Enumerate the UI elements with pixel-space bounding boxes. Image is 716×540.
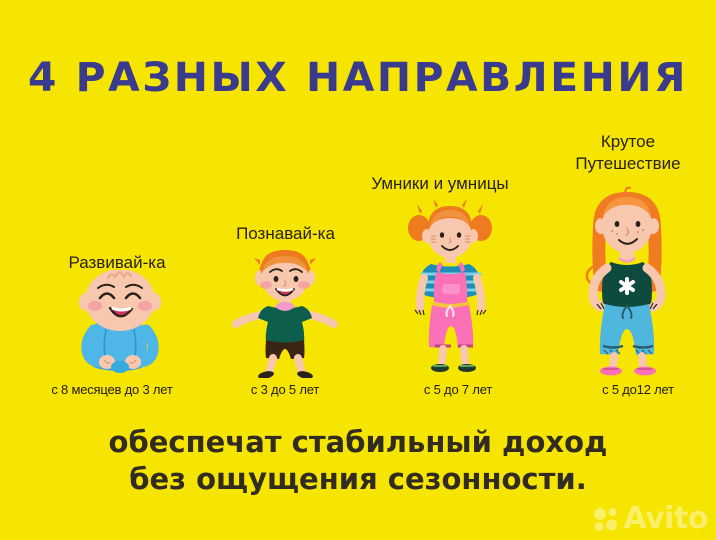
category-label-4: Крутое Путешествие [545, 131, 711, 175]
tagline: обеспечат стабильный доход без ощущения … [0, 424, 716, 498]
baby-sitting-illustration [60, 270, 180, 375]
toddler-boy-illustration [228, 248, 343, 378]
age-label-1: с 8 месяцев до 3 лет [22, 382, 202, 397]
page-title: 4 РАЗНЫХ НАПРАВЛЕНИЯ [0, 58, 716, 98]
avito-dots-icon [593, 506, 619, 532]
tagline-line-1: обеспечат стабильный доход [109, 425, 608, 459]
age-label-4: с 5 до12 лет [558, 382, 716, 397]
tagline-line-2: без ощущения сезонности. [0, 461, 716, 498]
age-label-2: с 3 до 5 лет [205, 382, 365, 397]
poster-canvas: 4 РАЗНЫХ НАПРАВЛЕНИЯ Развивай-ка [0, 0, 716, 540]
category-label-4-line2: Путешествие [575, 154, 680, 173]
avito-watermark: Avito [593, 504, 708, 534]
teen-girl-jeans-illustration [567, 186, 687, 376]
girl-overalls-illustration [398, 198, 503, 376]
age-label-3: с 5 до 7 лет [378, 382, 538, 397]
category-label-2: Познавай-ка [213, 224, 358, 244]
avito-watermark-label: Avito [624, 504, 708, 534]
category-label-3: Умники и умницы [340, 174, 540, 194]
category-label-4-line1: Крутое [601, 132, 655, 151]
